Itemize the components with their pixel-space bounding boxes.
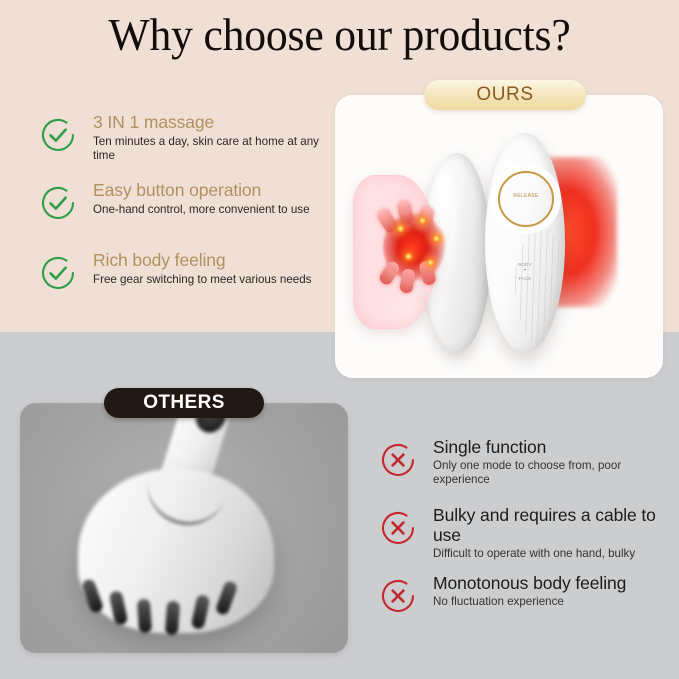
- device-right-body: RELEASE BODY • FACE: [485, 133, 565, 353]
- product-comparison-infographic: Why choose our products? 3 IN 1 massage …: [0, 0, 679, 679]
- device-mode-face-label: FACE: [485, 275, 565, 282]
- check-circle-icon: [38, 115, 78, 155]
- pros-item-description: One-hand control, more convenient to use: [93, 203, 328, 217]
- cons-item-description: No fluctuation experience: [433, 595, 670, 609]
- pros-list-item: Easy button operation One-hand control, …: [38, 180, 328, 238]
- device-mode-separator: •: [485, 268, 565, 275]
- x-circle-icon: [378, 576, 418, 616]
- check-circle-icon: [38, 183, 78, 223]
- pros-list-item: Rich body feeling Free gear switching to…: [38, 250, 328, 308]
- others-product-photo: [20, 403, 348, 653]
- ours-badge: OURS: [424, 80, 586, 110]
- others-badge-label: OTHERS: [143, 392, 225, 414]
- device-release-label: RELEASE: [500, 193, 552, 199]
- cons-item-title: Bulky and requires a cable to use: [433, 505, 670, 545]
- device-left-massage-prongs: [379, 203, 449, 295]
- ours-product-card: RELEASE BODY • FACE: [335, 95, 663, 378]
- check-circle-icon: [38, 253, 78, 293]
- page-title: Why choose our products?: [10, 8, 669, 62]
- cons-list-item: Single function Only one mode to choose …: [378, 437, 670, 495]
- x-circle-icon: [378, 508, 418, 548]
- ours-product-photo: RELEASE BODY • FACE: [335, 95, 663, 378]
- pros-list-item: 3 IN 1 massage Ten minutes a day, skin c…: [38, 112, 328, 170]
- pros-item-description: Free gear switching to meet various need…: [93, 273, 328, 287]
- device-release-dial-button[interactable]: RELEASE: [498, 171, 554, 227]
- device-mode-body-label: BODY: [485, 261, 565, 268]
- cons-item-title: Single function: [433, 437, 670, 457]
- cons-list: Single function Only one mode to choose …: [378, 437, 670, 641]
- cons-list-item: Monotonous body feeling No fluctuation e…: [378, 573, 670, 631]
- device-mode-indicators: BODY • FACE: [485, 261, 565, 282]
- pros-item-description: Ten minutes a day, skin care at home at …: [93, 135, 328, 162]
- device-right-texture-stripes: [511, 227, 565, 353]
- cons-item-description: Difficult to operate with one hand, bulk…: [433, 547, 670, 561]
- pros-item-title: 3 IN 1 massage: [93, 112, 328, 133]
- pros-list: 3 IN 1 massage Ten minutes a day, skin c…: [38, 112, 328, 318]
- others-product-card: [20, 403, 348, 653]
- cons-list-item: Bulky and requires a cable to use Diffic…: [378, 505, 670, 563]
- pros-item-title: Easy button operation: [93, 180, 328, 201]
- cons-item-title: Monotonous body feeling: [433, 573, 670, 593]
- x-circle-icon: [378, 440, 418, 480]
- pros-item-title: Rich body feeling: [93, 250, 328, 271]
- cons-item-description: Only one mode to choose from, poor exper…: [433, 459, 670, 486]
- ours-badge-label: OURS: [476, 84, 533, 106]
- others-badge: OTHERS: [104, 388, 264, 418]
